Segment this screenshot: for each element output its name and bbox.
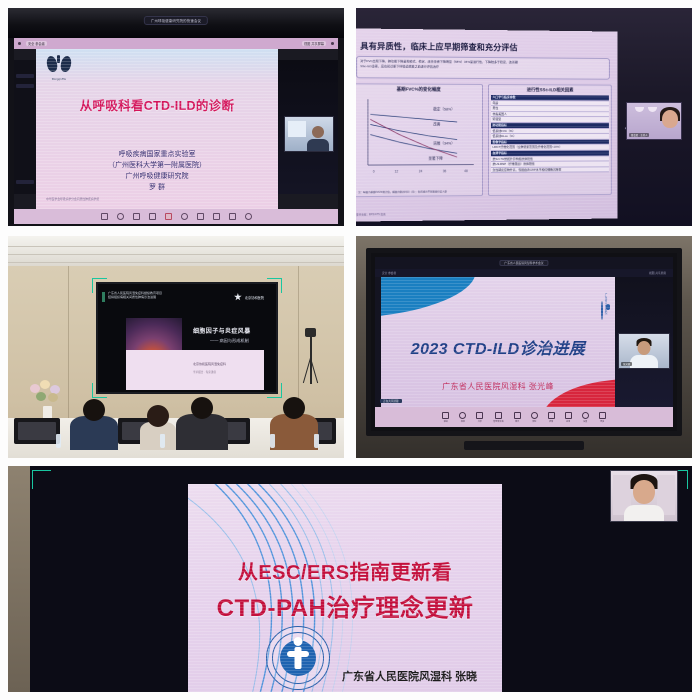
table-row: 肺功能指标 bbox=[490, 123, 608, 129]
table-row: 低基线DLco（%） bbox=[490, 134, 608, 140]
accent-bar-icon bbox=[102, 292, 105, 302]
slide-title-line-2: CTD-PAH治疗理念更新 bbox=[188, 588, 502, 623]
slide-columns: 基期FVC%的变化幅度 稳定（58%） 改善 bbox=[356, 83, 612, 197]
svg-text:显著下降: 显著下降 bbox=[428, 156, 443, 161]
blue-swoosh-decoration bbox=[381, 277, 479, 318]
apps-icon[interactable] bbox=[213, 213, 220, 220]
video-button[interactable]: 视频 bbox=[459, 412, 466, 423]
camera-tripod bbox=[310, 336, 312, 384]
table-row: 抗Scl-70/抗拓扑异构酶抗体阳性 bbox=[490, 156, 608, 162]
svg-text:进展（34%）: 进展（34%） bbox=[433, 140, 454, 145]
factors-title: 进行性SSc-ILD相关因素 bbox=[490, 87, 608, 93]
screenshot-collage: 广州呼吸健康研究院的快速会议 安全 参会者 视图 共享屏幕 bbox=[0, 0, 700, 700]
attendee bbox=[176, 414, 228, 450]
chart-column: 基期FVC%的变化幅度 稳定（58%） 改善 bbox=[356, 83, 483, 197]
table-row: 急性期反应物升高，包括血清CRP水平和红细胞沉降率 bbox=[490, 167, 608, 173]
affiliation-line-1: 呼吸疾病国家重点实验室 bbox=[36, 149, 278, 160]
appbar-right-label[interactable]: 视图 共享屏幕 bbox=[647, 271, 668, 275]
participants-button[interactable]: 管理参会者 bbox=[493, 412, 503, 423]
chat-icon[interactable] bbox=[165, 213, 172, 220]
svg-text:48: 48 bbox=[464, 169, 468, 173]
table-row: 人口学与临床参数 bbox=[490, 95, 608, 101]
participant-name-label: 张光峰 bbox=[621, 362, 632, 366]
meeting-app-bar: 安全 参会者 视图 共享屏幕 bbox=[375, 269, 673, 277]
video-icon[interactable] bbox=[117, 213, 124, 220]
panel-meeting-ctd-ild-diagnosis: 广州呼吸健康研究院的快速会议 安全 参会者 视图 共享屏幕 bbox=[8, 8, 344, 226]
settings-icon[interactable] bbox=[229, 213, 236, 220]
slide-title: 从呼吸科看CTD-ILD的诊断 bbox=[36, 95, 278, 114]
apps-button[interactable]: 应用 bbox=[565, 412, 572, 423]
water-bottle bbox=[56, 434, 61, 448]
wall-mounted-display: 广东省人民医院风湿科学术会议 安全 参会者 视图 共享屏幕 广东省人民医院 20… bbox=[366, 248, 682, 436]
table-row: 低基线FVC（%） bbox=[490, 129, 608, 135]
meeting-app-bar: 安全 参会者 视图 共享屏幕 bbox=[14, 38, 338, 49]
presentation-slide: 从ESC/ERS指南更新看 CTD-PAH治疗理念更新 广东省人民医院风湿科 张… bbox=[188, 484, 502, 692]
participants-icon bbox=[495, 412, 502, 419]
video-icon bbox=[459, 412, 466, 419]
left-rail bbox=[14, 60, 36, 194]
hospital-brand: 北京协和医院 bbox=[234, 293, 264, 301]
water-bottle bbox=[314, 434, 319, 448]
water-bottle bbox=[270, 434, 275, 448]
table-row: 弥漫型 bbox=[490, 117, 608, 123]
chat-button[interactable]: 聊天 bbox=[514, 412, 521, 423]
display-stand bbox=[464, 441, 584, 450]
panel-conference-room-photo: 广东省人民医院风湿免疫科继续教育项目 结缔组织病相关间质性肺病诊治进展 北京协和… bbox=[8, 236, 344, 458]
reaction-button[interactable]: 表情 bbox=[548, 412, 555, 423]
share-icon[interactable] bbox=[133, 213, 140, 220]
red-swoosh-decoration bbox=[539, 377, 615, 407]
table-row: 男性 bbox=[490, 106, 608, 112]
slide-affiliation: 呼吸疾病国家重点实验室 （广州医科大学第一附属医院） 广州呼吸健康研究院 罗 群 bbox=[36, 149, 278, 193]
slide-title-line-1: 从ESC/ERS指南更新看 bbox=[188, 556, 502, 585]
screen-surface: 广东省人民医院风湿科学术会议 安全 参会者 视图 共享屏幕 广东省人民医院 20… bbox=[375, 257, 673, 427]
more-button[interactable]: 更多 bbox=[599, 412, 606, 423]
slide-header: 广东省人民医院风湿免疫科继续教育项目 结缔组织病相关间质性肺病诊治进展 bbox=[108, 291, 162, 300]
presentation-slide: Rongqi Zhu 从呼吸科看CTD-ILD的诊断 呼吸疾病国家重点实验室 （… bbox=[36, 49, 278, 209]
settings-button[interactable]: 设置 bbox=[582, 412, 589, 423]
corner-marker-icon bbox=[267, 278, 282, 293]
brand-name: 北京协和医院 bbox=[245, 295, 264, 300]
table-row: 影像学指标 bbox=[490, 140, 608, 146]
flower-arrangement bbox=[28, 380, 68, 414]
chart-title: 基期FVC%的变化幅度 bbox=[357, 86, 479, 93]
meeting-toolbar[interactable]: 静音 视频 共享 管理参会者 聊天 录制 表情 应用 设置 更多 bbox=[375, 407, 673, 427]
record-button[interactable]: 录制 bbox=[531, 412, 538, 423]
participant-rail bbox=[278, 60, 338, 194]
share-button[interactable]: 共享 bbox=[476, 412, 483, 423]
meeting-info-pill[interactable]: 广东省人民医院风湿科学术会议 bbox=[499, 260, 548, 266]
participant-video-thumbnail[interactable]: 张光峰 bbox=[618, 333, 670, 369]
mute-icon[interactable] bbox=[101, 213, 108, 220]
security-icon[interactable] bbox=[18, 42, 21, 45]
slide-presenter: 广东省人民医院风湿科 张光峰 bbox=[381, 381, 615, 392]
participants-icon[interactable] bbox=[149, 213, 156, 220]
meeting-info-pill[interactable]: 广州呼吸健康研究院的快速会议 bbox=[144, 16, 208, 25]
panel-projected-ssc-ild-slide: 具有异质性，临床上应早期筛查和充分评估 对于FVC出现下降，肺功能下降呈现模式、… bbox=[356, 8, 692, 226]
blue-swirl-decoration bbox=[188, 484, 418, 692]
table-row: 年龄 bbox=[490, 101, 608, 107]
lungs-logo-icon: Rongqi Zhu bbox=[46, 56, 72, 80]
slide-presenter: 广东省人民医院风湿科 张晓 bbox=[342, 668, 477, 684]
note-line-2: SSc-ILD患者，应在初诊断下呼吸道病变之前进行评估治疗 bbox=[360, 64, 606, 70]
attendee bbox=[70, 416, 118, 450]
fvc-line-chart: 稳定（58%） 改善 进展（34%） 显著下降 012 243648 bbox=[358, 97, 478, 178]
participant-video-thumbnail[interactable]: 参会者 · 主持人 bbox=[626, 102, 682, 140]
corner-marker-icon bbox=[32, 470, 51, 489]
svg-text:0: 0 bbox=[373, 170, 375, 174]
logo-circle-icon bbox=[601, 301, 603, 320]
logo-text: 广东省人民医院 bbox=[603, 293, 607, 315]
participant-name-label: 参会者 · 主持人 bbox=[629, 133, 649, 137]
record-icon[interactable] bbox=[181, 213, 188, 220]
settings-icon bbox=[582, 412, 589, 419]
more-icon bbox=[599, 412, 606, 419]
apps-icon bbox=[565, 412, 572, 419]
factors-table: 人口学与临床参数 年龄 男性 非裔美国人 弥漫型 肺功能指标 低基线FVC（%）… bbox=[490, 95, 608, 173]
share-icon bbox=[476, 412, 483, 419]
meeting-toolbar[interactable] bbox=[14, 209, 338, 224]
table-row: 抗U3-RNP（纤维蛋白）抗体阳性 bbox=[490, 162, 608, 168]
slide-header-line-2: 结缔组织病相关间质性肺病诊治进展 bbox=[108, 295, 162, 299]
chair bbox=[14, 418, 60, 444]
hospital-logo: 广东省人民医院 bbox=[601, 291, 607, 320]
ceiling bbox=[8, 236, 344, 266]
presentation-slide: 广东省人民医院 2023 CTD-ILD诊治进展 广东省人民医院风湿科 张光峰 bbox=[381, 277, 615, 407]
participant-rail: 张光峰 bbox=[615, 277, 673, 407]
slide-title: 2023 CTD-ILD诊治进展 bbox=[381, 335, 615, 359]
corner-marker-icon bbox=[92, 278, 107, 293]
chart-note: 注：纵轴为基线FVC%预计值，横轴为随访时间（月）；各折线为不同基线分层人群 bbox=[358, 190, 478, 194]
mute-button[interactable]: 静音 bbox=[442, 412, 449, 423]
chat-icon bbox=[514, 412, 521, 419]
hospital-logo-icon bbox=[266, 626, 330, 690]
table-row: 非裔美国人 bbox=[490, 112, 608, 118]
logo-caption: Rongqi Zhu bbox=[46, 77, 72, 81]
slide-title: 细胞因子与炎症风暴 bbox=[193, 326, 251, 335]
slide-footnote: 参考文献：ERS/ATS 指南 bbox=[356, 213, 386, 217]
svg-text:改善: 改善 bbox=[433, 122, 440, 127]
slide-note-box: 对于FVC出现下降，肺功能下降呈现模式、稳定、改善患者下降明显（58%）34%呈… bbox=[356, 56, 610, 80]
svg-text:24: 24 bbox=[419, 169, 423, 173]
panel-ctd-pah-guideline-slide: 从ESC/ERS指南更新看 CTD-PAH治疗理念更新 广东省人民医院风湿科 张… bbox=[8, 466, 692, 692]
sharing-status-badge: 正在共享屏幕 bbox=[380, 399, 402, 403]
reaction-icon bbox=[548, 412, 555, 419]
table-row: 血清学指标 bbox=[490, 151, 608, 157]
attendee bbox=[140, 422, 176, 450]
shared-content-stage: Rongqi Zhu 从呼吸科看CTD-ILD的诊断 呼吸疾病国家重点实验室 （… bbox=[14, 49, 338, 209]
mute-icon bbox=[442, 412, 449, 419]
panel-tv-2023-ctd-ild: 广东省人民医院风湿科学术会议 安全 参会者 视图 共享屏幕 广东省人民医院 20… bbox=[356, 236, 692, 458]
appbar-right-label[interactable]: 视图 共享屏幕 bbox=[302, 41, 326, 46]
affiliation-line-2: （广州医科大学第一附属医院） bbox=[36, 160, 278, 171]
record-icon bbox=[531, 412, 538, 419]
appbar-left-label[interactable]: 安全 参会者 bbox=[380, 271, 398, 275]
slide-heading: 具有异质性，临床上应早期筛查和充分评估 bbox=[360, 41, 608, 54]
presentation-display: 广东省人民医院风湿免疫科继续教育项目 结缔组织病相关间质性肺病诊治进展 北京协和… bbox=[96, 282, 278, 394]
slide-footnote: 中华医学会呼吸病学分会间质性肺疾病学组 bbox=[46, 197, 99, 201]
factors-column: 进行性SSc-ILD相关因素 人口学与临床参数 年龄 男性 非裔美国人 弥漫型 … bbox=[487, 84, 611, 196]
red-swoosh-decoration bbox=[381, 277, 460, 312]
meeting-app-window: 安全 参会者 视图 共享屏幕 Rongqi Zhu bbox=[14, 38, 338, 224]
table-row: HRCT纤维化范围（全肺受累范围及纤维化范围>20%） bbox=[490, 145, 608, 151]
svg-text:稳定（58%）: 稳定（58%） bbox=[433, 107, 454, 112]
more-icon[interactable] bbox=[245, 213, 252, 220]
affiliation-line-3: 广州呼吸健康研究院 bbox=[36, 171, 278, 182]
water-bottle bbox=[160, 434, 165, 448]
svg-text:12: 12 bbox=[395, 169, 399, 173]
attendee bbox=[270, 414, 318, 450]
slide-subtitle: —— 病因与形成机制 bbox=[210, 338, 249, 344]
view-icon[interactable] bbox=[331, 42, 334, 45]
corner-marker-icon bbox=[267, 383, 282, 398]
reaction-icon[interactable] bbox=[197, 213, 204, 220]
appbar-left-label[interactable]: 安全 参会者 bbox=[26, 41, 47, 46]
corner-marker-icon bbox=[92, 383, 107, 398]
projection-screen: 具有异质性，临床上应早期筛查和充分评估 对于FVC出现下降，肺功能下降呈现模式、… bbox=[356, 28, 618, 221]
wall-edge bbox=[8, 466, 30, 692]
band-line-1: 北京协和医院风湿免疫科 bbox=[193, 362, 226, 366]
slide-speaker: 罗 群 bbox=[36, 182, 278, 193]
participant-video-thumbnail[interactable] bbox=[284, 116, 334, 152]
brand-star-icon bbox=[234, 293, 242, 301]
band-line-2: 学术报告 · 专家讲座 bbox=[193, 370, 216, 374]
participant-video-thumbnail[interactable] bbox=[610, 470, 678, 522]
svg-text:36: 36 bbox=[443, 169, 447, 173]
note-line-1: 对于FVC出现下降，肺功能下降呈现模式、稳定、改善患者下降明显（58%）34%呈… bbox=[360, 59, 606, 65]
